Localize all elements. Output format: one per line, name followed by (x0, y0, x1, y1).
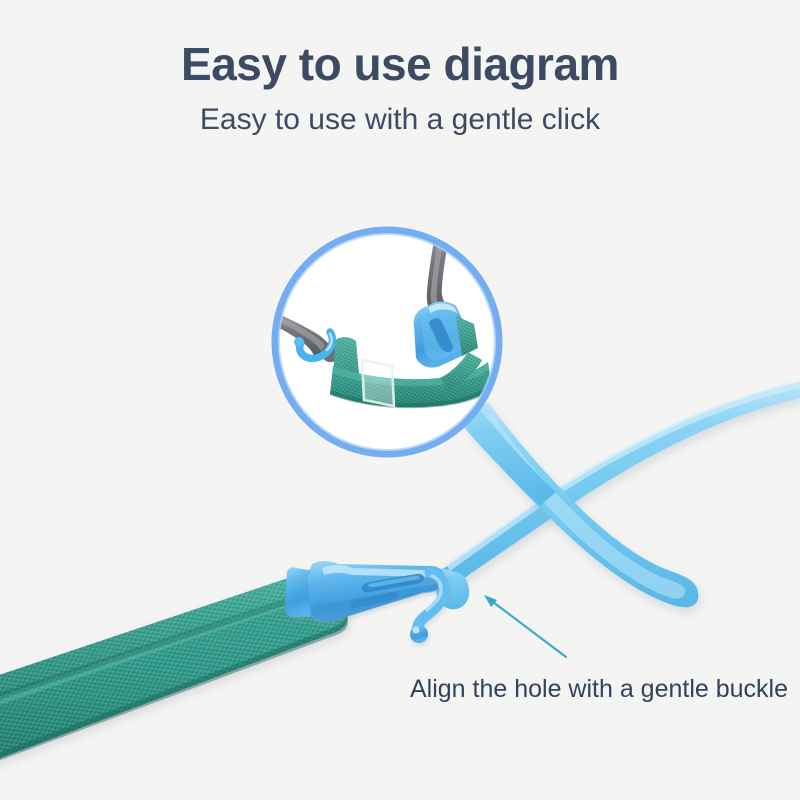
strap-adjuster-slider (362, 360, 394, 406)
product-illustration (0, 0, 800, 800)
infographic-canvas: Easy to use diagram Easy to use with a g… (0, 0, 800, 800)
